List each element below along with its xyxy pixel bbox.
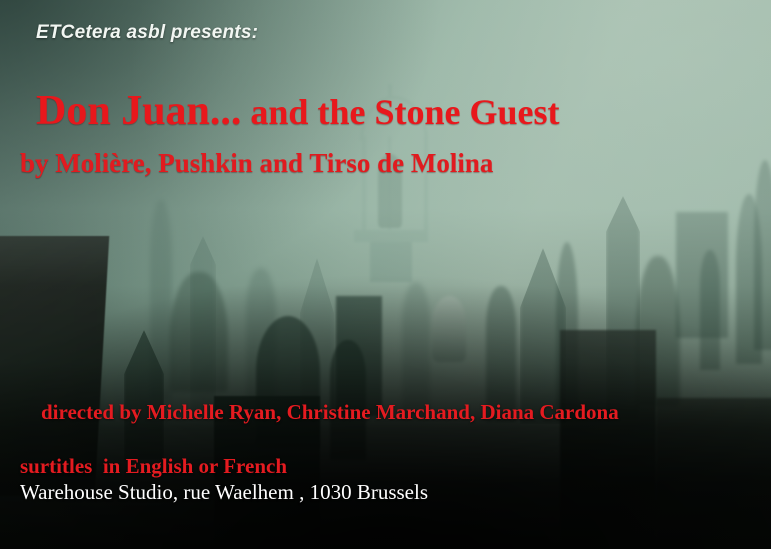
title-main: Don Juan... (36, 88, 241, 134)
presenter-line: ETCetera asbl presents: (36, 22, 258, 44)
directors-line: directed by Michelle Ryan, Christine Mar… (41, 400, 619, 424)
venue-info-block: Warehouse Studio, rue Waelhem , 1030 Bru… (20, 430, 428, 549)
page-title: Don Juan... and the Stone Guest (20, 74, 559, 148)
authors-line: by Molière, Pushkin and Tirso de Molina (20, 148, 493, 179)
venue-line: Warehouse Studio, rue Waelhem , 1030 Bru… (20, 480, 428, 505)
title-rest: and the Stone Guest (241, 92, 559, 132)
theatre-poster: ETCetera asbl presents: Don Juan... and … (0, 0, 771, 549)
